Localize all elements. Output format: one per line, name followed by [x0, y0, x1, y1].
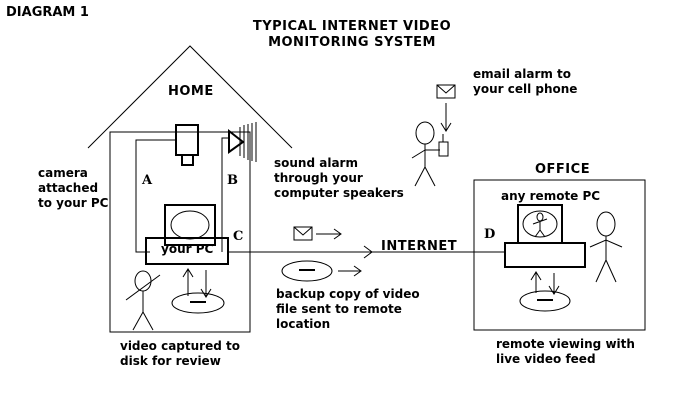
office-person-icon — [590, 212, 622, 282]
backup-arrow-right-icon — [338, 266, 361, 276]
camera-note-line-1: camera — [38, 167, 88, 180]
backup-note-line-3: location — [276, 318, 330, 331]
home-box — [110, 132, 250, 332]
camera-wire-a — [136, 140, 176, 252]
home-caption-line-2: disk for review — [120, 355, 221, 368]
backup-note-line-1: backup copy of video — [276, 288, 420, 301]
speaker-wire-b — [222, 138, 229, 252]
title-line-2: MONITORING SYSTEM — [252, 36, 452, 50]
email-envelope-icon — [294, 227, 312, 240]
cellphone-person-icon — [412, 122, 448, 186]
sound-note-line-1: sound alarm — [274, 157, 358, 170]
office-disk-icon — [520, 291, 570, 311]
home-person-icon — [126, 271, 160, 330]
home-caption-line-1: video captured to — [120, 340, 240, 353]
sound-note-line-2: through your — [274, 172, 363, 185]
email-note-line-1: email alarm to — [473, 68, 571, 81]
camera-note-line-2: attached — [38, 182, 98, 195]
office-caption-line-1: remote viewing with — [496, 338, 635, 351]
cellphone-arrow-down-icon — [441, 103, 451, 131]
speaker-icon — [229, 122, 256, 162]
diagram-label: DIAGRAM 1 — [6, 6, 89, 20]
office-label: OFFICE — [535, 163, 590, 177]
office-caption-line-2: live video feed — [496, 353, 596, 366]
home-label: HOME — [168, 85, 214, 99]
email-arrow-right-icon — [316, 229, 341, 239]
connection-label-c: C — [233, 230, 243, 244]
connection-label-d: D — [484, 228, 495, 242]
internet-label: INTERNET — [381, 240, 457, 254]
camera-icon — [176, 125, 198, 165]
connection-label-a: A — [142, 174, 152, 188]
your-pc-label: your PC — [161, 243, 213, 256]
diagram-canvas: DIAGRAM 1 TYPICAL INTERNET VIDEO MONITOR… — [0, 0, 690, 400]
sound-note-line-3: computer speakers — [274, 187, 404, 200]
email-note-line-2: your cell phone — [473, 83, 577, 96]
backup-disk-icon — [282, 261, 332, 281]
cellphone-envelope-icon — [437, 85, 455, 98]
connection-label-b: B — [227, 174, 238, 188]
remote-pc-label: any remote PC — [501, 190, 600, 203]
office-monitor-icon — [518, 205, 562, 243]
office-pc-box — [505, 243, 585, 267]
title-line-1: TYPICAL INTERNET VIDEO — [252, 20, 452, 34]
home-disk-icon — [172, 293, 224, 313]
backup-note-line-2: file sent to remote — [276, 303, 402, 316]
camera-note-line-3: to your PC — [38, 197, 108, 210]
